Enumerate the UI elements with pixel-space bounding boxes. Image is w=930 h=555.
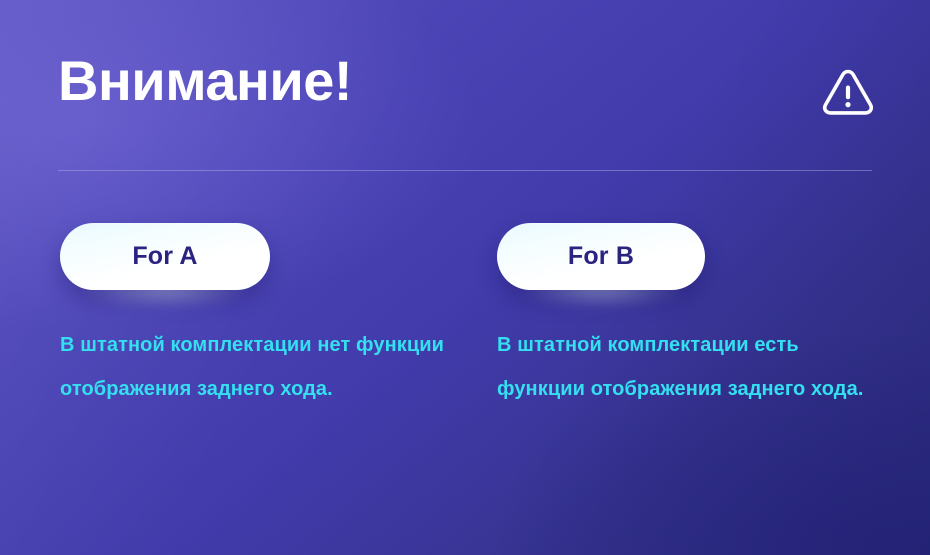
- slide-content: Внимание! For A В штатной комплектации н…: [0, 0, 930, 555]
- header-divider: [58, 170, 872, 171]
- for-a-button-wrap: For A: [60, 223, 270, 290]
- for-a-button[interactable]: For A: [60, 223, 270, 290]
- option-a-description: В штатной комплектации нет функции отобр…: [60, 323, 452, 411]
- for-b-button-wrap: For B: [497, 223, 705, 290]
- warning-slide: Внимание! For A В штатной комплектации н…: [0, 0, 930, 555]
- for-b-button[interactable]: For B: [497, 223, 705, 290]
- warning-triangle-icon: [818, 62, 878, 122]
- option-column-a: For A В штатной комплектации нет функции…: [60, 223, 460, 290]
- option-column-b: For B В штатной комплектации есть функци…: [497, 223, 897, 290]
- page-title: Внимание!: [58, 52, 352, 110]
- option-b-description: В штатной комплектации есть функции отоб…: [497, 323, 889, 411]
